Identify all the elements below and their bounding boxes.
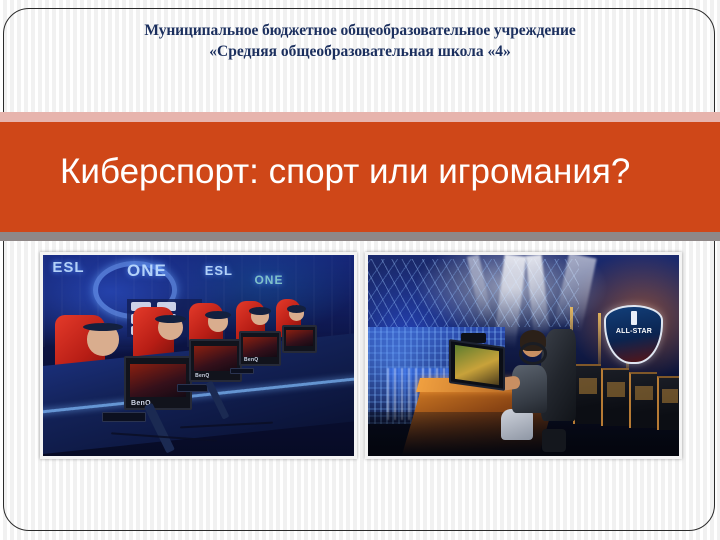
esl-photo-content: ESL ONE ESL ONE	[43, 255, 354, 456]
slide-title: Киберспорт: спорт или игромания?	[60, 150, 700, 194]
booth-monitor	[579, 378, 597, 393]
header-line-2: «Средняя общеобразовательная школа «4»	[52, 41, 668, 62]
gaming-monitor: BenQ	[124, 356, 192, 410]
gaming-monitor	[449, 340, 505, 392]
esl-logo-text-center: ONE	[127, 261, 167, 281]
header-line-1: Муниципальное бюджетное общеобразователь…	[52, 20, 668, 41]
player-booth	[629, 372, 657, 428]
booth-monitor	[635, 386, 653, 400]
monitor-screen	[455, 346, 499, 386]
esl-logo-text-left: ESL	[52, 259, 84, 276]
slide-header: Муниципальное бюджетное общеобразователь…	[52, 20, 668, 62]
all-star-badge-label: ALL-STAR	[606, 328, 661, 335]
player-booth	[573, 364, 601, 424]
gaming-monitor	[282, 325, 316, 353]
monitor-screen	[243, 337, 276, 357]
banner-top-accent-strip	[0, 112, 720, 122]
booth-monitor	[607, 382, 625, 397]
keyboard	[102, 412, 146, 422]
esl-logo-text-side: ONE	[254, 273, 283, 287]
chair-base	[542, 429, 566, 452]
booth-monitor	[662, 389, 678, 403]
title-banner: Киберспорт: спорт или игромания?	[0, 122, 720, 232]
esports-player	[505, 335, 567, 440]
presentation-slide: Муниципальное бюджетное общеобразователь…	[0, 0, 720, 540]
keyboard	[230, 368, 255, 375]
monitor-screen	[130, 364, 187, 397]
player-booth	[657, 376, 679, 430]
gaming-monitor: BenQ	[189, 339, 242, 381]
gaming-monitor: BenQ	[239, 331, 281, 365]
all-star-arena-photo: ALL-STAR	[365, 252, 682, 459]
player-legs	[501, 409, 533, 440]
esl-tournament-photo: ESL ONE ESL ONE	[40, 252, 357, 459]
arena-photo-content: ALL-STAR	[368, 255, 679, 456]
player-torso	[512, 365, 547, 413]
monitor-brand-label: BenQ	[244, 357, 259, 363]
keyboard	[177, 384, 208, 392]
headset-icon	[519, 342, 548, 365]
monitor-brand-label: BenQ	[195, 373, 210, 379]
esl-logo-text-right: ESL	[205, 263, 233, 278]
monitor-screen	[286, 330, 313, 346]
badge-sword-icon	[631, 311, 638, 325]
banner-bottom-accent-strip	[0, 232, 720, 241]
player-booth	[601, 368, 629, 426]
